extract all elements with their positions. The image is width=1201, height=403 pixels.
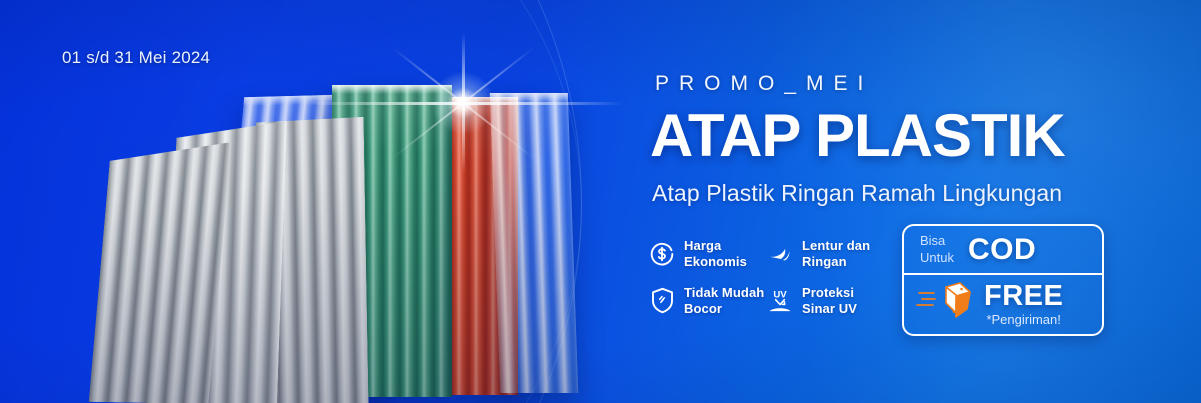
feature-label-line1: Proteksi bbox=[802, 285, 854, 300]
free-note-label: *Pengiriman! bbox=[986, 313, 1060, 326]
badge-prefix-line1: Bisa bbox=[920, 233, 945, 248]
badge-prefix-label: Bisa Untuk bbox=[920, 233, 954, 266]
free-label: FREE bbox=[984, 282, 1063, 311]
promo-banner: 01 s/d 31 Mei 2024 PROMO_MEI ATAP PLASTI… bbox=[0, 0, 1201, 403]
free-shipping-label: FREE *Pengiriman! bbox=[984, 282, 1063, 326]
feature-item-lentur-dan-ringan: Lentur dan Ringan bbox=[766, 230, 898, 277]
feature-list: Harga Ekonomis Lentur dan Ringan bbox=[648, 230, 898, 324]
cod-label: COD bbox=[968, 233, 1036, 267]
corrugated-sheet-clear-right bbox=[490, 93, 578, 393]
promo-subtitle: Atap Plastik Ringan Ramah Lingkungan bbox=[652, 180, 1062, 207]
feature-item-proteksi-sinar-uv: UV Proteksi Sinar UV bbox=[766, 277, 898, 324]
dollar-circle-icon bbox=[648, 240, 676, 268]
corrugated-sheet-gray-a bbox=[89, 140, 232, 403]
feature-label-line2: Sinar UV bbox=[802, 301, 857, 316]
svg-text:UV: UV bbox=[773, 289, 787, 300]
flying-delivery-box-icon bbox=[916, 279, 974, 328]
promo-kicker: PROMO_MEI bbox=[655, 72, 873, 96]
badge-cod-row: Bisa Untuk COD bbox=[904, 226, 1102, 275]
feature-label: Tidak Mudah Bocor bbox=[684, 285, 764, 316]
feature-item-harga-ekonomis: Harga Ekonomis bbox=[648, 230, 766, 277]
feature-label-line1: Tidak Mudah bbox=[684, 285, 764, 300]
feature-label-line1: Lentur dan bbox=[802, 238, 870, 253]
feature-label: Proteksi Sinar UV bbox=[802, 285, 857, 316]
badge-prefix-line2: Untuk bbox=[920, 250, 954, 265]
cod-free-badge: Bisa Untuk COD FREE *Pe bbox=[902, 224, 1104, 336]
badge-free-row: FREE *Pengiriman! bbox=[904, 275, 1102, 332]
feature-item-tidak-mudah-bocor: Tidak Mudah Bocor bbox=[648, 277, 766, 324]
feature-label-line2: Ringan bbox=[802, 254, 847, 269]
shield-icon bbox=[648, 287, 676, 315]
feature-label: Harga Ekonomis bbox=[684, 238, 747, 269]
feature-label-line2: Bocor bbox=[684, 301, 722, 316]
flex-wave-icon bbox=[766, 240, 794, 268]
product-image-group bbox=[80, 0, 600, 403]
feature-label-line1: Harga bbox=[684, 238, 721, 253]
uv-protection-icon: UV bbox=[766, 287, 794, 315]
feature-label: Lentur dan Ringan bbox=[802, 238, 870, 269]
page-title: ATAP PLASTIK bbox=[650, 106, 1065, 166]
feature-label-line2: Ekonomis bbox=[684, 254, 747, 269]
